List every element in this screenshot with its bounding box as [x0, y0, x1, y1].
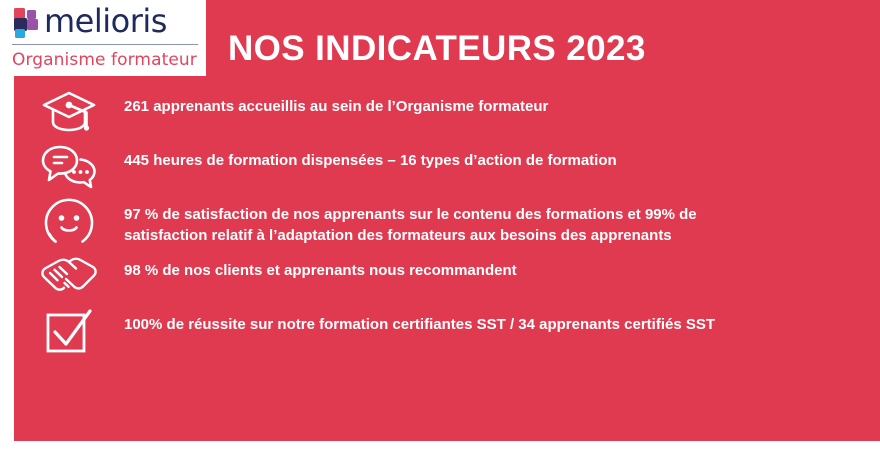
brand-logo-box: melioris Organisme formateur — [0, 0, 206, 76]
page-title: NOS INDICATEURS 2023 — [228, 28, 646, 70]
brand-tagline: Organisme formateur — [12, 48, 197, 72]
indicator-row: 445 heures de formation dispensées – 16 … — [14, 140, 774, 194]
indicator-text: 97 % de satisfaction de nos apprenants s… — [124, 194, 774, 246]
indicator-row: 98 % de nos clients et apprenants nous r… — [14, 250, 774, 304]
indicators-poster: melioris Organisme formateur NOS INDICAT… — [0, 0, 880, 455]
handshake-icon — [14, 250, 124, 296]
brand-wordmark: melioris — [44, 1, 167, 41]
indicator-row: 100% de réussite sur notre formation cer… — [14, 304, 774, 358]
indicator-list: 261 apprenants accueillis au sein de l’O… — [14, 86, 774, 358]
smiley-face-icon — [14, 194, 124, 250]
indicator-text: 261 apprenants accueillis au sein de l’O… — [124, 86, 774, 117]
indicator-row: 261 apprenants accueillis au sein de l’O… — [14, 86, 774, 140]
indicator-text: 445 heures de formation dispensées – 16 … — [124, 140, 774, 171]
speech-bubbles-icon — [14, 140, 124, 192]
brand-divider — [12, 44, 198, 45]
checkbox-check-icon — [14, 304, 124, 358]
brand-logo-inner: melioris Organisme formateur — [10, 4, 200, 72]
graduation-cap-icon — [14, 86, 124, 136]
indicator-text: 98 % de nos clients et apprenants nous r… — [124, 250, 774, 281]
indicator-row: 97 % de satisfaction de nos apprenants s… — [14, 194, 774, 250]
indicator-text: 100% de réussite sur notre formation cer… — [124, 304, 774, 335]
melioris-squares-logo-icon — [14, 8, 42, 38]
